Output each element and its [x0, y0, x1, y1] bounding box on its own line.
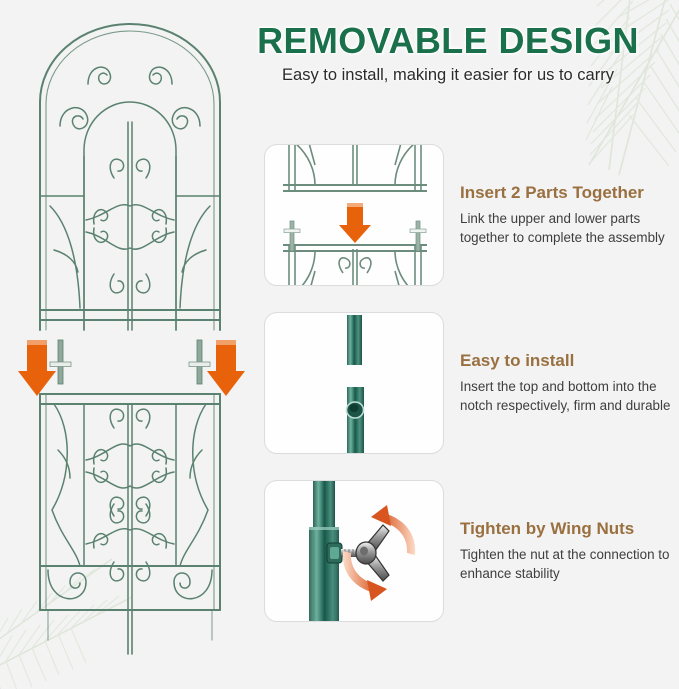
card-body: Tighten the nut at the connection to enh…: [460, 545, 676, 583]
card-heading: Easy to install: [460, 351, 676, 371]
feature-card-insert-parts: Insert 2 Parts Together Link the upper a…: [264, 140, 676, 290]
feature-card-list: Insert 2 Parts Together Link the upper a…: [264, 140, 676, 644]
connector-pin-icon: [50, 340, 210, 384]
card-heading: Tighten by Wing Nuts: [460, 519, 676, 539]
insertion-arrow-icon: [18, 340, 245, 396]
insertion-arrow-icon: [339, 203, 371, 243]
card-body: Insert the top and bottom into the notch…: [460, 377, 676, 415]
card-text: Tighten by Wing Nuts Tighten the nut at …: [444, 519, 676, 582]
feature-card-wing-nuts: Tighten by Wing Nuts Tighten the nut at …: [264, 476, 676, 626]
card-heading: Insert 2 Parts Together: [460, 183, 676, 203]
product-illustration: [14, 10, 246, 660]
tube-sleeve: [309, 527, 339, 621]
header: REMOVABLE DESIGN Easy to install, making…: [222, 22, 674, 85]
lower-tube: [347, 387, 364, 453]
figure-two-panels-joining: [264, 144, 444, 286]
figure-wing-nut-rotation: [264, 480, 444, 622]
card-text: Easy to install Insert the top and botto…: [444, 351, 676, 414]
card-text: Insert 2 Parts Together Link the upper a…: [444, 183, 676, 246]
upper-tube: [347, 315, 362, 365]
infographic-canvas: REMOVABLE DESIGN Easy to install, making…: [0, 0, 679, 679]
feature-card-easy-install: Easy to install Insert the top and botto…: [264, 308, 676, 458]
page-subtitle: Easy to install, making it easier for us…: [222, 66, 674, 85]
notch-hole-icon: [347, 402, 364, 418]
figure-tube-and-notch: [264, 312, 444, 454]
page-title: REMOVABLE DESIGN: [222, 22, 674, 60]
card-body: Link the upper and lower parts together …: [460, 209, 676, 247]
wing-nut-icon: [356, 525, 389, 581]
